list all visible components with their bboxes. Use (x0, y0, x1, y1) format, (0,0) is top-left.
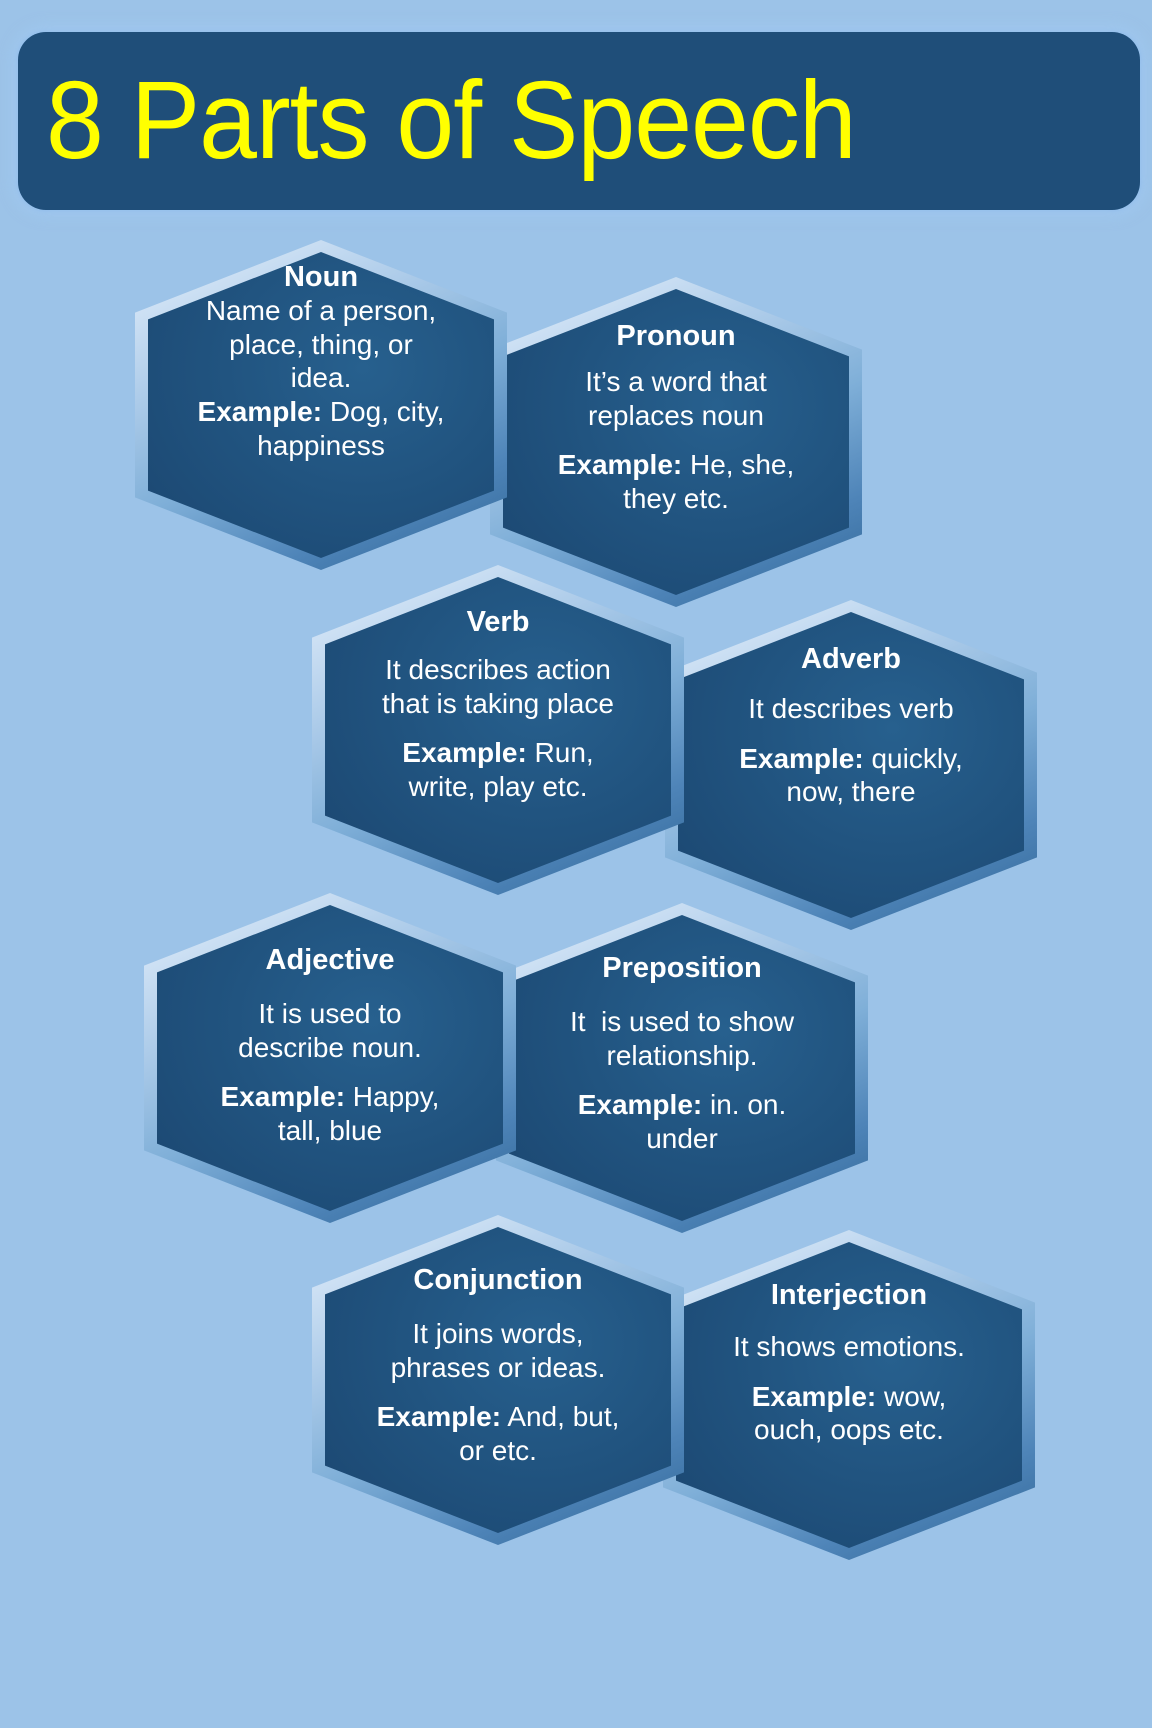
hexagon-card-preposition[interactable]: Preposition It is used to show relations… (496, 903, 868, 1233)
part-of-speech-example: Example: He, she, they etc. (558, 448, 795, 515)
example-label: Example: (377, 1401, 502, 1432)
part-of-speech-description: Name of a person, place, thing, or idea. (206, 294, 436, 395)
hexagon-content: Pronoun It’s a word that replaces noun E… (516, 277, 836, 607)
hexagon-content: Noun Name of a person, place, thing, or … (161, 240, 481, 570)
part-of-speech-description: It’s a word that replaces noun (585, 365, 767, 432)
part-of-speech-name: Preposition (602, 951, 762, 985)
part-of-speech-example: Example: Happy, tall, blue (221, 1080, 440, 1147)
poster-title-banner: 8 Parts of Speech (18, 32, 1140, 210)
hexagon-content: Interjection It shows emotions. Example:… (689, 1230, 1009, 1560)
part-of-speech-description: It describes verb (748, 692, 953, 726)
part-of-speech-name: Noun (284, 260, 358, 294)
hexagon-card-noun[interactable]: Noun Name of a person, place, thing, or … (135, 240, 507, 570)
part-of-speech-example: Example: Run, write, play etc. (402, 736, 593, 803)
hexagon-content: Conjunction It joins words, phrases or i… (338, 1215, 658, 1545)
part-of-speech-description: It is used to describe noun. (238, 997, 422, 1064)
hexagon-card-interjection[interactable]: Interjection It shows emotions. Example:… (663, 1230, 1035, 1560)
example-label: Example: (578, 1089, 703, 1120)
example-label: Example: (221, 1081, 346, 1112)
example-label: Example: (752, 1381, 877, 1412)
hexagon-card-conjunction[interactable]: Conjunction It joins words, phrases or i… (312, 1215, 684, 1545)
part-of-speech-example: Example: quickly, now, there (739, 742, 963, 809)
part-of-speech-description: It describes action that is taking place (382, 653, 614, 720)
example-label: Example: (402, 737, 527, 768)
part-of-speech-name: Adjective (266, 943, 395, 977)
part-of-speech-name: Verb (467, 605, 530, 639)
hexagon-card-adjective[interactable]: Adjective It is used to describe noun. E… (144, 893, 516, 1223)
hexagon-card-adverb[interactable]: Adverb It describes verb Example: quickl… (665, 600, 1037, 930)
example-label: Example: (739, 743, 864, 774)
page-title: 8 Parts of Speech (18, 66, 856, 176)
hexagon-content: Adjective It is used to describe noun. E… (170, 893, 490, 1223)
part-of-speech-example: Example: Dog, city, happiness (198, 395, 445, 462)
part-of-speech-example: Example: And, but, or etc. (377, 1400, 620, 1467)
hexagon-content: Adverb It describes verb Example: quickl… (691, 600, 1011, 930)
part-of-speech-name: Interjection (771, 1278, 927, 1312)
part-of-speech-example: Example: in. on. under (578, 1088, 787, 1155)
example-label: Example: (558, 449, 683, 480)
hexagon-card-pronoun[interactable]: Pronoun It’s a word that replaces noun E… (490, 277, 862, 607)
part-of-speech-name: Pronoun (616, 319, 735, 353)
example-label: Example: (198, 396, 323, 427)
part-of-speech-example: Example: wow, ouch, oops etc. (752, 1380, 947, 1447)
part-of-speech-name: Adverb (801, 642, 901, 676)
part-of-speech-description: It shows emotions. (733, 1330, 965, 1364)
part-of-speech-name: Conjunction (413, 1263, 582, 1297)
part-of-speech-description: It is used to show relationship. (570, 1005, 794, 1072)
hexagon-card-verb[interactable]: Verb It describes action that is taking … (312, 565, 684, 895)
hexagon-content: Verb It describes action that is taking … (338, 565, 658, 895)
part-of-speech-description: It joins words, phrases or ideas. (391, 1317, 606, 1384)
hexagon-content: Preposition It is used to show relations… (522, 903, 842, 1233)
